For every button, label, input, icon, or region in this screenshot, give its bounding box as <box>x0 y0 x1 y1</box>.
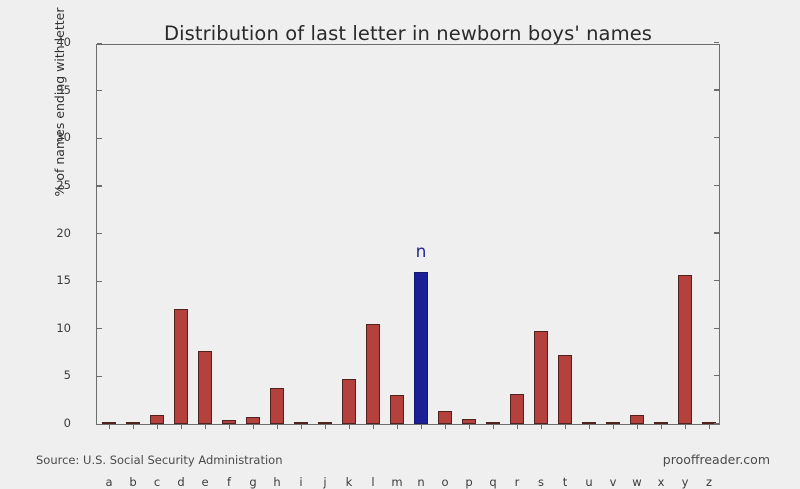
y-axis-tick-label: 10 <box>56 321 71 335</box>
y-axis-tick-mark-right <box>714 89 719 90</box>
y-axis-tick-mark-right <box>714 232 719 233</box>
y-axis-tick-label: 30 <box>56 130 71 144</box>
x-axis-tick-mark <box>685 424 686 429</box>
x-axis-tick-mark <box>397 424 398 429</box>
x-axis-tick-mark <box>349 424 350 429</box>
x-axis-tick-mark <box>469 424 470 429</box>
page-title: Distribution of last letter in newborn b… <box>96 22 720 45</box>
x-axis-tick-mark <box>493 424 494 429</box>
x-axis-tick-mark <box>205 424 206 429</box>
bar[interactable] <box>366 324 381 424</box>
bar[interactable] <box>510 394 525 424</box>
bar[interactable] <box>390 395 405 424</box>
bar-highlighted[interactable] <box>414 272 429 424</box>
y-axis-tick-mark-right <box>714 137 719 138</box>
bar[interactable] <box>198 351 213 424</box>
x-axis-tick-mark <box>373 424 374 429</box>
x-axis-tick-mark <box>445 424 446 429</box>
x-axis-tick-mark <box>109 424 110 429</box>
x-axis-tick-mark <box>421 424 422 429</box>
y-axis-tick-label: 0 <box>64 416 71 430</box>
x-axis-tick-mark <box>277 424 278 429</box>
site-credit: prooffreader.com <box>663 452 770 467</box>
bar[interactable] <box>150 415 165 424</box>
bar[interactable] <box>246 417 261 424</box>
x-axis-tick-mark <box>613 424 614 429</box>
x-axis-tick-mark <box>589 424 590 429</box>
x-axis-tick-mark <box>325 424 326 429</box>
x-axis-tick-mark <box>301 424 302 429</box>
y-axis-tick-label: 15 <box>56 273 71 287</box>
y-axis-tick-mark-right <box>714 42 719 43</box>
x-axis-tick-mark <box>157 424 158 429</box>
y-axis-tick-mark-right <box>714 423 719 424</box>
y-axis-tick-mark <box>97 328 102 329</box>
bar[interactable] <box>342 379 357 424</box>
x-axis-tick-mark <box>565 424 566 429</box>
y-axis-tick-mark <box>97 376 102 377</box>
y-axis-tick-mark <box>97 90 102 91</box>
y-axis-tick-mark-right <box>714 375 719 376</box>
y-axis-tick-mark-right <box>714 328 719 329</box>
y-axis-tick-mark <box>97 43 102 44</box>
plot-area: 0510152025303540 n abcdefghijklmnopqrstu… <box>96 44 720 425</box>
bar[interactable] <box>630 415 645 424</box>
bar[interactable] <box>438 411 453 424</box>
y-axis-tick-mark <box>97 233 102 234</box>
bar[interactable] <box>270 388 285 424</box>
x-axis-tick-mark <box>229 424 230 429</box>
source-note: Source: U.S. Social Security Administrat… <box>36 453 283 467</box>
y-axis-tick-mark <box>97 138 102 139</box>
plot-inner: 0510152025303540 n abcdefghijklmnopqrstu… <box>97 45 719 424</box>
x-axis-tick-mark <box>637 424 638 429</box>
x-axis-tick-label: z <box>694 475 724 489</box>
x-axis-tick-mark <box>181 424 182 429</box>
y-axis-tick-mark <box>97 281 102 282</box>
y-axis-tick-label: 20 <box>56 226 71 240</box>
bar[interactable] <box>534 331 549 424</box>
bar[interactable] <box>678 275 693 424</box>
bar-annotation-label: n <box>401 242 441 262</box>
bar[interactable] <box>558 355 573 424</box>
y-axis-tick-label: 25 <box>56 178 71 192</box>
x-axis-tick-mark <box>253 424 254 429</box>
x-axis-tick-mark <box>661 424 662 429</box>
y-axis-tick-label: 35 <box>56 83 71 97</box>
x-axis-tick-mark <box>517 424 518 429</box>
y-axis-tick-mark-right <box>714 280 719 281</box>
x-axis-tick-mark <box>709 424 710 429</box>
y-axis-tick-mark <box>97 185 102 186</box>
bar[interactable] <box>174 309 189 424</box>
y-axis-tick-mark-right <box>714 185 719 186</box>
x-axis-tick-mark <box>133 424 134 429</box>
y-axis-tick-label: 5 <box>64 368 71 382</box>
chart-figure: Distribution of last letter in newborn b… <box>0 0 800 481</box>
y-axis-tick-label: 40 <box>56 35 71 49</box>
x-axis-tick-mark <box>541 424 542 429</box>
